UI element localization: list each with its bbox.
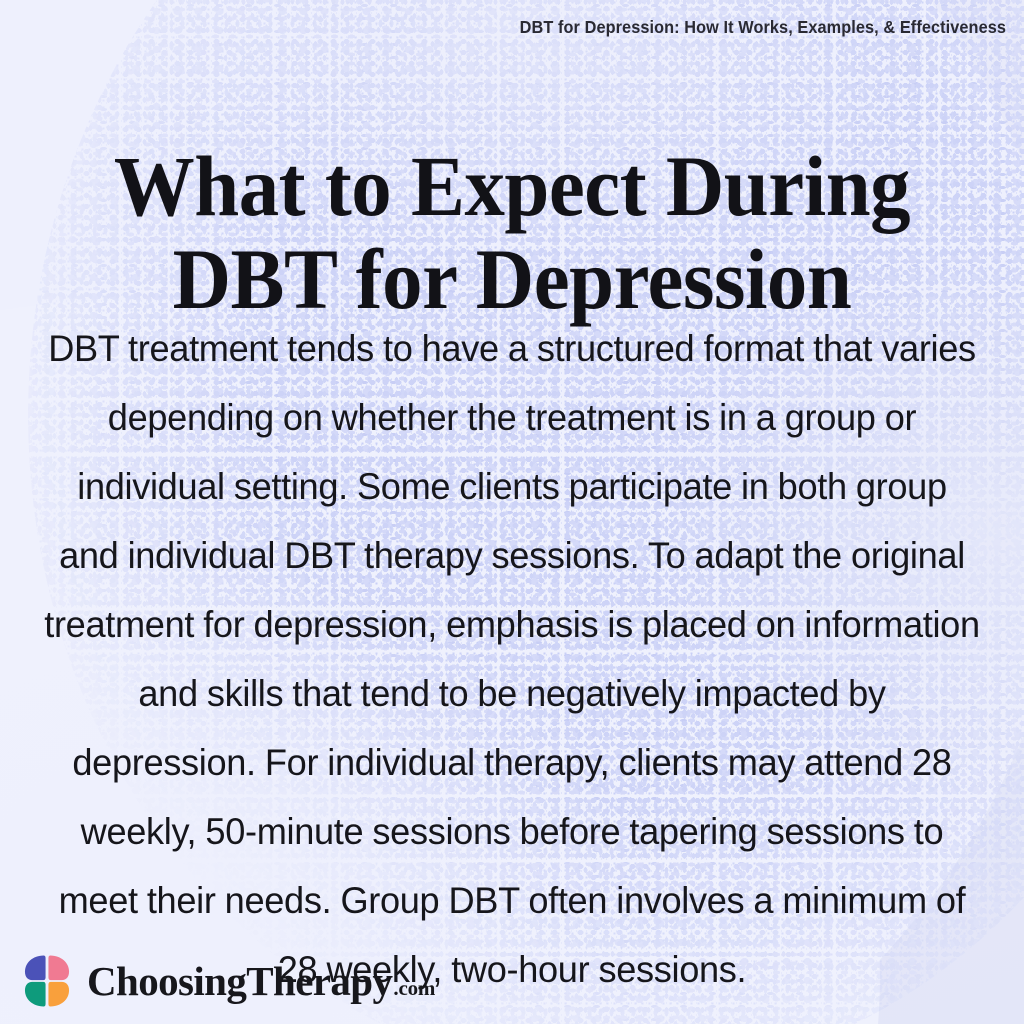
brand-tld: .com (393, 978, 435, 999)
brand-wordmark: ChoosingTherapy.com (87, 961, 435, 1002)
page-title: What to Expect During DBT for Depression (68, 140, 955, 327)
page-title-line-1: What to Expect During (68, 140, 955, 234)
brand-name: ChoosingTherapy (87, 961, 392, 1002)
body-paragraph: DBT treatment tends to have a structured… (43, 314, 981, 1004)
card-content: DBT for Depression: How It Works, Exampl… (0, 0, 1024, 1024)
social-card: DBT for Depression: How It Works, Exampl… (0, 0, 1024, 1024)
brand-logo[interactable]: ChoosingTherapy.com (18, 952, 435, 1010)
article-breadcrumb-title: DBT for Depression: How It Works, Exampl… (349, 17, 1006, 38)
four-petal-pinwheel-icon (18, 952, 76, 1010)
